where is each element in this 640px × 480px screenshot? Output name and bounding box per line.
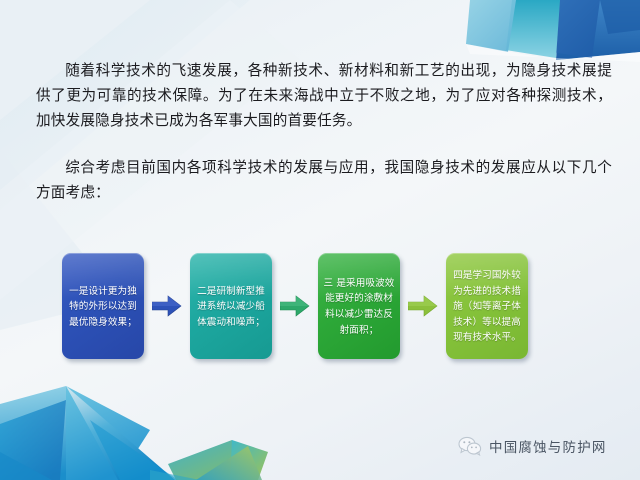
- body-text-block: 随着科学技术的飞速发展，各种新技术、新材料和新工艺的出现，为隐身技术展提供了更为…: [36, 58, 612, 205]
- arrow-right-icon: [408, 295, 438, 317]
- arrow-right-icon: [280, 295, 310, 317]
- wechat-icon: [458, 436, 482, 456]
- flow-node-3[interactable]: 三 是采用吸波效能更好的涂敷材料以减少雷达反射面积；: [318, 253, 400, 359]
- flow-node-1-label: 一是设计更为独特的外形以达到最优隐身效果；: [67, 284, 139, 331]
- flow-node-4-label: 四是学习国外较为先进的技术措施（如等离子体技术）等以提高现有技术水平。: [451, 268, 523, 346]
- process-flowchart: 一是设计更为独特的外形以达到最优隐身效果； 二是研制新型推进系统以减少船体震动和…: [62, 246, 582, 366]
- paragraph-2: 综合考虑目前国内各项科学技术的发展与应用，我国隐身技术的发展应从以下几个方面考虑…: [36, 155, 612, 205]
- paragraph-1: 随着科学技术的飞速发展，各种新技术、新材料和新工艺的出现，为隐身技术展提供了更为…: [36, 58, 612, 133]
- flow-arrow-2: [272, 253, 318, 359]
- brand-name: 中国腐蚀与防护网: [489, 436, 607, 456]
- slide-canvas: 随着科学技术的飞速发展，各种新技术、新材料和新工艺的出现，为隐身技术展提供了更为…: [0, 0, 640, 480]
- flow-node-2-label: 二是研制新型推进系统以减少船体震动和噪声；: [195, 284, 267, 331]
- flow-node-1[interactable]: 一是设计更为独特的外形以达到最优隐身效果；: [62, 253, 144, 359]
- flow-arrow-1: [144, 253, 190, 359]
- flow-node-4[interactable]: 四是学习国外较为先进的技术措施（如等离子体技术）等以提高现有技术水平。: [446, 253, 528, 359]
- footer-brand: 中国腐蚀与防护网: [458, 436, 607, 456]
- flow-arrow-3: [400, 253, 446, 359]
- flow-node-2[interactable]: 二是研制新型推进系统以减少船体震动和噪声；: [190, 253, 272, 359]
- flow-node-3-label: 三 是采用吸波效能更好的涂敷材料以减少雷达反射面积；: [323, 276, 395, 338]
- arrow-right-icon: [152, 295, 182, 317]
